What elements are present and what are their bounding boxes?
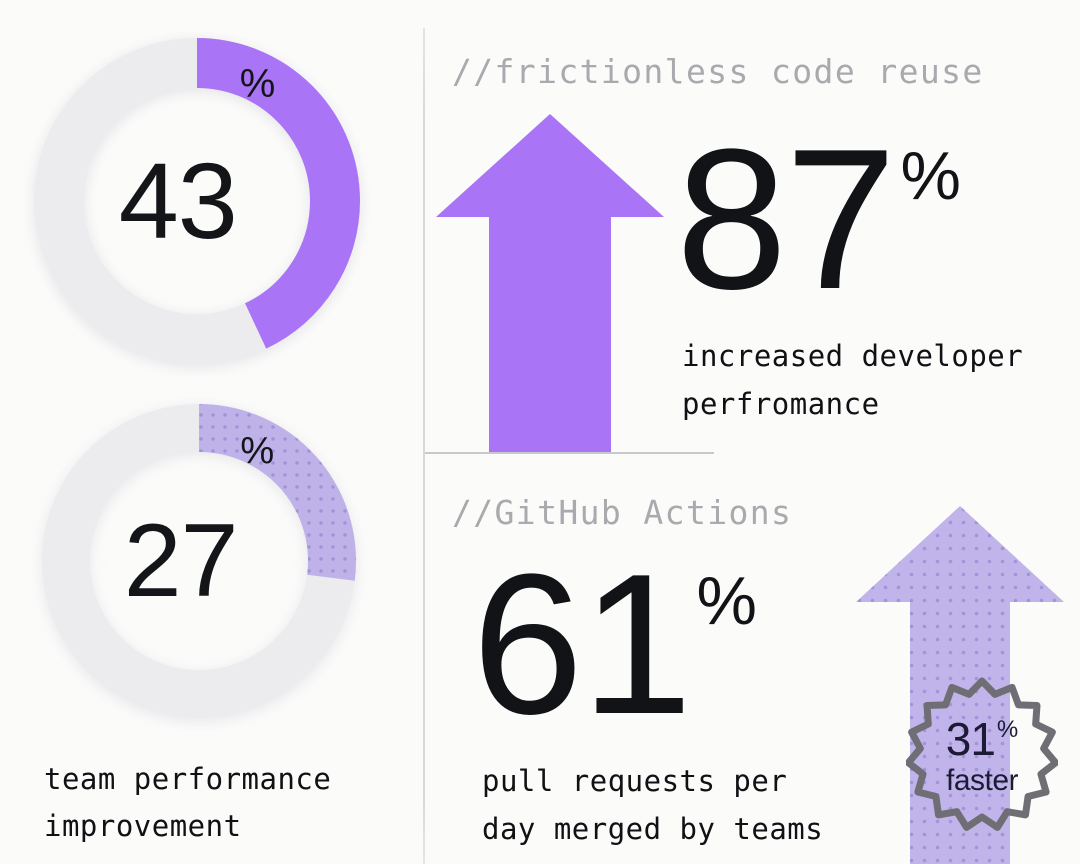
up-arrow-solid-svg <box>436 114 664 452</box>
donut-27-percent-sign: % <box>240 432 274 470</box>
section-heading-frictionless: //frictionless code reuse <box>452 52 984 91</box>
up-arrow-solid-icon <box>436 114 664 452</box>
faster-badge-value-row: 31 % <box>946 716 1019 762</box>
faster-badge-percent-sign: % <box>997 718 1018 742</box>
stat-87-value: 87 <box>676 120 894 320</box>
donut-27-center-label: 27% <box>30 392 368 730</box>
faster-badge: 31 % faster <box>906 676 1058 834</box>
section-heading-github-actions: //GitHub Actions <box>452 493 792 532</box>
stat-87-group: 87 % <box>676 120 961 320</box>
horizontal-divider <box>425 452 714 454</box>
stat-61-group: 61 % <box>472 545 757 745</box>
stat-87-percent-sign: % <box>900 142 960 210</box>
vertical-divider <box>423 28 425 864</box>
faster-badge-sublabel: faster <box>946 764 1018 798</box>
section-caption-frictionless: increased developer perfromance <box>682 332 1080 429</box>
stat-61-percent-sign: % <box>696 567 756 635</box>
donut-chart-43: 43% <box>22 26 372 376</box>
faster-badge-text: 31 % faster <box>906 676 1058 834</box>
section-caption-github-actions: pull requests per day merged by teams <box>482 757 902 854</box>
donut-chart-27: 27% <box>30 392 368 730</box>
stat-61-value: 61 <box>472 545 690 745</box>
donut-43-percent-sign: % <box>240 64 276 104</box>
donut-27-value: 27 <box>124 509 238 613</box>
left-panel-caption: team performance improvement <box>44 756 424 850</box>
donut-43-value: 43 <box>119 147 237 255</box>
donut-43-center-label: 43% <box>22 26 372 376</box>
infographic-canvas: 43% 27% te <box>0 0 1080 864</box>
faster-badge-value: 31 <box>946 716 995 762</box>
